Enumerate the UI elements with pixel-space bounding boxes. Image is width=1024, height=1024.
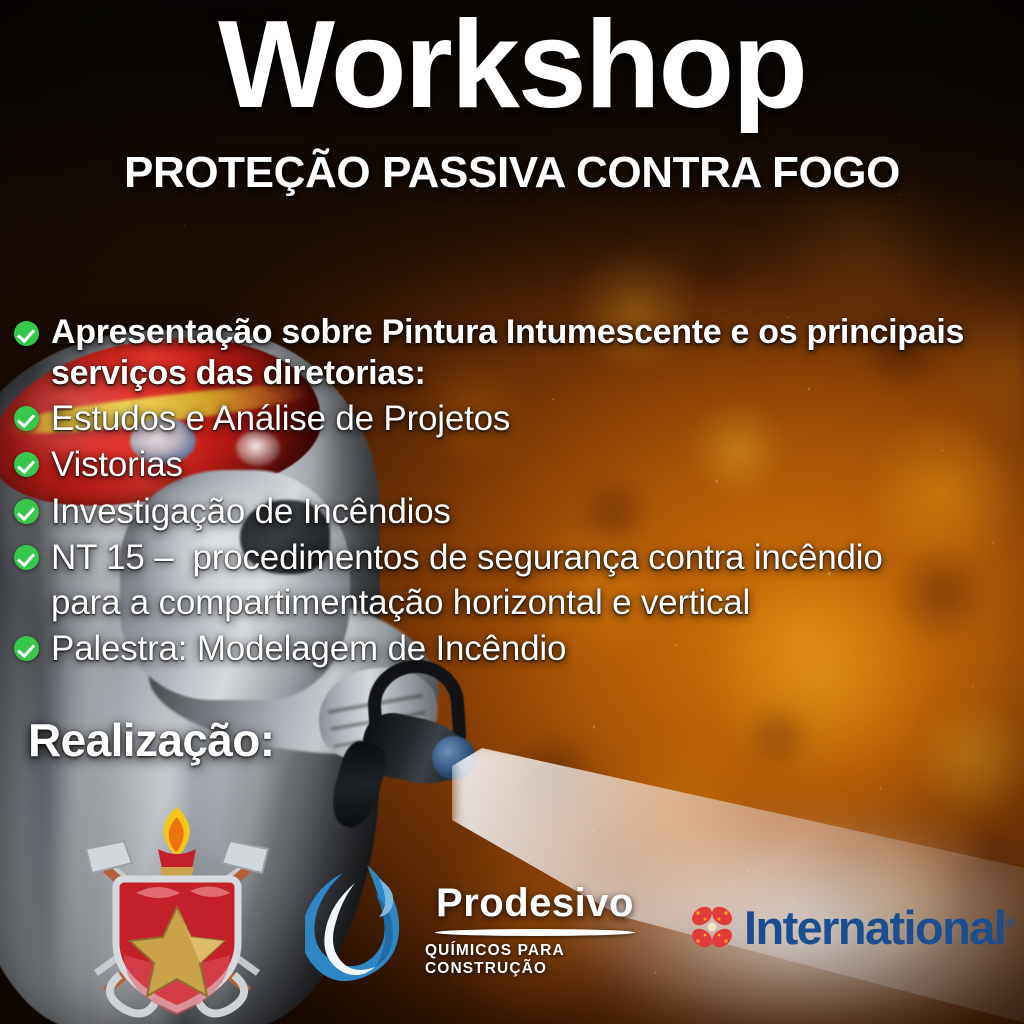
hose-nozzle-grip <box>325 738 391 833</box>
poster-canvas: Workshop PROTEÇÃO PASSIVA CONTRA FOGO Ap… <box>0 0 1024 1024</box>
check-circle-icon <box>14 452 39 477</box>
list-item-label: Investigação de Incêndios <box>51 490 451 534</box>
list-item: Palestra: Modelagem de Incêndio <box>14 627 1014 671</box>
firefighter-glove <box>311 658 445 769</box>
prodesivo-logo: Prodesivo QUÍMICOS PARA CONSTRUÇÃO <box>305 855 645 990</box>
international-wordmark: International® <box>744 904 1014 951</box>
international-name: International <box>744 901 1005 954</box>
page-title: Workshop <box>0 0 1024 128</box>
prodesivo-divider <box>435 929 635 936</box>
check-circle-icon <box>14 406 39 431</box>
propeller-icon <box>686 901 738 953</box>
list-item-label: Palestra: Modelagem de Incêndio <box>51 627 566 671</box>
fire-brigade-crest-logo <box>62 805 292 1024</box>
hose-nozzle-ring <box>432 736 476 780</box>
glove-fingers <box>325 680 430 758</box>
check-circle-icon <box>14 636 39 661</box>
hose-nozzle-body <box>357 707 476 792</box>
list-item: Estudos e Análise de Projetos <box>14 397 1014 441</box>
list-item: Vistorias <box>14 443 1014 487</box>
realizacao-label: Realização: <box>28 713 275 767</box>
check-circle-icon <box>14 321 39 346</box>
prodesivo-name: Prodesivo <box>436 881 634 926</box>
agenda-list: Apresentação sobre Pintura Intumescente … <box>14 312 1014 674</box>
list-item: Apresentação sobre Pintura Intumescente … <box>14 312 1014 395</box>
list-item: NT 15 – procedimentos de segurança contr… <box>14 536 1014 625</box>
prodesivo-tagline: QUÍMICOS PARA CONSTRUÇÃO <box>425 942 645 978</box>
international-logo: International® <box>686 896 986 958</box>
list-item-label: Estudos e Análise de Projetos <box>51 397 510 441</box>
check-circle-icon <box>14 499 39 524</box>
list-item-label: Vistorias <box>51 443 183 487</box>
check-circle-icon <box>14 545 39 570</box>
water-droplet-swirl-icon <box>305 859 417 987</box>
header-block: Workshop PROTEÇÃO PASSIVA CONTRA FOGO <box>0 0 1024 197</box>
list-item-label: Apresentação sobre Pintura Intumescente … <box>51 312 964 395</box>
prodesivo-wordmark: Prodesivo QUÍMICOS PARA CONSTRUÇÃO <box>425 867 645 978</box>
list-item: Investigação de Incêndios <box>14 490 1014 534</box>
registered-trademark-symbol: ® <box>1005 914 1014 930</box>
page-subtitle: PROTEÇÃO PASSIVA CONTRA FOGO <box>0 150 1024 196</box>
list-item-label: NT 15 – procedimentos de segurança contr… <box>51 536 883 625</box>
